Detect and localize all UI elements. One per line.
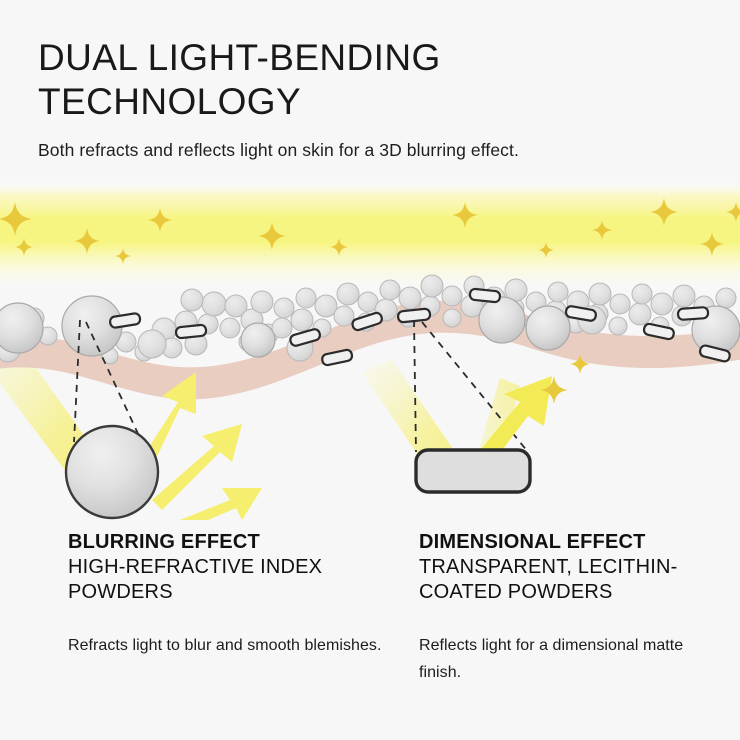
page-title: DUAL LIGHT-BENDING TECHNOLOGY	[38, 36, 702, 124]
effect-block-dimensional: DIMENSIONAL EFFECT TRANSPARENT, LECITHIN…	[419, 530, 729, 686]
effect-description-blurring: Refracts light to blur and smooth blemis…	[68, 632, 388, 659]
technology-illustration	[0, 180, 740, 520]
effect-subtitle-blurring: HIGH-REFRACTIVE INDEX POWDERS	[68, 555, 388, 605]
effects-columns: BLURRING EFFECT HIGH-REFRACTIVE INDEX PO…	[0, 530, 740, 720]
effect-description-dimensional: Reflects light for a dimensional matte f…	[419, 632, 729, 686]
infographic-page: DUAL LIGHT-BENDING TECHNOLOGY Both refra…	[0, 0, 740, 740]
header: DUAL LIGHT-BENDING TECHNOLOGY Both refra…	[38, 36, 702, 162]
page-subtitle: Both refracts and reflects light on skin…	[38, 138, 702, 162]
effect-subtitle-dimensional: TRANSPARENT, LECITHIN-COATED POWDERS	[419, 555, 729, 605]
effect-block-blurring: BLURRING EFFECT HIGH-REFRACTIVE INDEX PO…	[68, 530, 388, 659]
effect-title-blurring: BLURRING EFFECT	[68, 530, 388, 555]
light-band	[0, 180, 740, 292]
effect-title-dimensional: DIMENSIONAL EFFECT	[419, 530, 729, 555]
sphere-particle-icon	[66, 426, 158, 518]
flake-particle-icon	[416, 450, 530, 492]
